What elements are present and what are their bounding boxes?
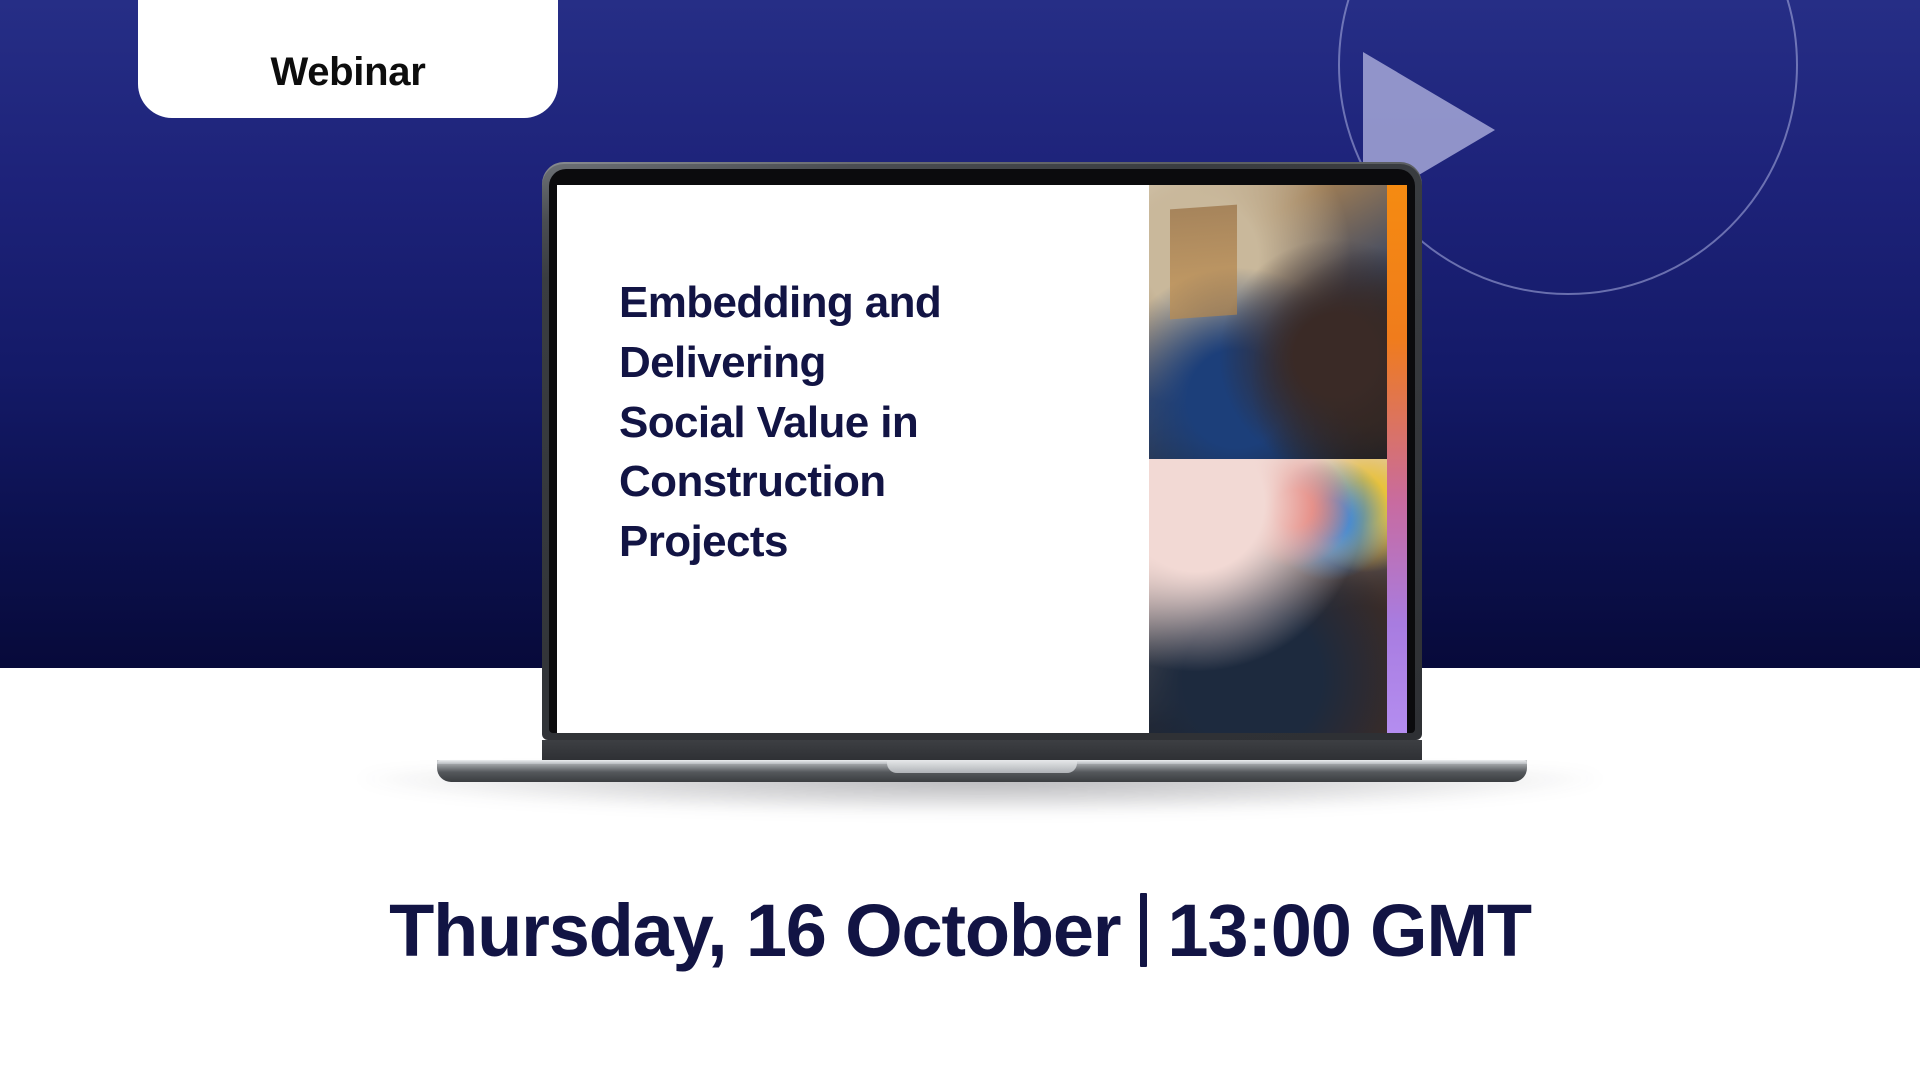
event-time: 13:00 GMT [1167, 888, 1530, 973]
webinar-badge: Webinar [138, 0, 558, 118]
event-date: Thursday, 16 October [389, 888, 1120, 973]
slide-content: Embedding and Delivering Social Value in… [557, 185, 1149, 733]
laptop-screen: Embedding and Delivering Social Value in… [557, 185, 1407, 733]
laptop-mockup: Embedding and Delivering Social Value in… [0, 0, 1920, 790]
orange-purple-gradient-bar [1387, 185, 1407, 733]
date-separator [1140, 893, 1147, 967]
slide-title: Embedding and Delivering Social Value in… [619, 273, 1089, 572]
webinar-promo-banner: Webinar Embedding and Delivering Social … [0, 0, 1920, 1080]
event-datetime: Thursday, 16 October 13:00 GMT [389, 888, 1531, 973]
laptop-base-notch [887, 760, 1077, 773]
laptop-base-deck [437, 760, 1527, 782]
footer-bar: Thursday, 16 October 13:00 GMT [0, 840, 1920, 1020]
photo-group-discussion [1149, 459, 1407, 733]
webinar-badge-label: Webinar [271, 52, 426, 92]
photo-office-collaboration [1149, 185, 1407, 459]
slide-photo-strip [1149, 185, 1407, 733]
